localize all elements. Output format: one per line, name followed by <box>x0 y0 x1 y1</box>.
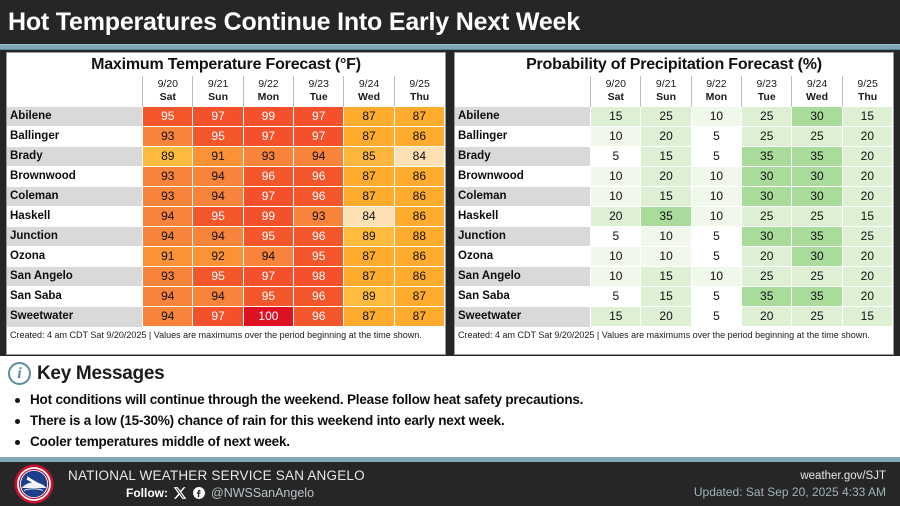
forecast-value-cell: 35 <box>641 207 691 227</box>
column-header-day-mon: 9/22Mon <box>691 76 741 107</box>
forecast-value-cell: 20 <box>641 167 691 187</box>
forecast-value-cell: 95 <box>243 227 293 247</box>
column-header-weekday: Sun <box>641 91 690 103</box>
column-header-date: 9/22 <box>706 78 726 90</box>
forecast-value-cell: 87 <box>394 307 444 327</box>
forecast-value-cell: 30 <box>792 187 842 207</box>
table-row: Junction949495968988 <box>7 227 445 247</box>
column-header-date: 9/24 <box>359 78 379 90</box>
table-row: San Saba949495968987 <box>7 287 445 307</box>
forecast-value-cell: 85 <box>344 147 394 167</box>
city-name-cell: Ozona <box>455 247 591 267</box>
city-name-cell: Ozona <box>7 247 143 267</box>
footer-bar: NATIONAL WEATHER SERVICE SAN ANGELO Foll… <box>0 462 900 506</box>
forecast-value-cell: 94 <box>193 167 243 187</box>
city-name-cell: Abilene <box>455 107 591 127</box>
forecast-value-cell: 35 <box>742 147 792 167</box>
forecast-value-cell: 93 <box>243 147 293 167</box>
forecast-value-cell: 20 <box>641 127 691 147</box>
column-header-date: 9/21 <box>656 78 676 90</box>
forecast-value-cell: 25 <box>742 107 792 127</box>
column-header-date: 9/21 <box>208 78 228 90</box>
table-header-row: 9/20Sat9/21Sun9/22Mon9/23Tue9/24Wed9/25T… <box>7 76 445 107</box>
forecast-value-cell: 15 <box>842 307 892 327</box>
forecast-value-cell: 20 <box>842 187 892 207</box>
table-body: Abilene959799978787Ballinger939597978786… <box>7 107 445 327</box>
table-row: Brady5155353520 <box>455 147 893 167</box>
column-header-weekday: Tue <box>294 91 343 103</box>
website-link[interactable]: weather.gov/SJT <box>694 470 886 482</box>
forecast-value-cell: 15 <box>641 267 691 287</box>
forecast-value-cell: 15 <box>591 307 641 327</box>
table-header-row: 9/20Sat9/21Sun9/22Mon9/23Tue9/24Wed9/25T… <box>455 76 893 107</box>
table-row: Ballinger939597978786 <box>7 127 445 147</box>
forecast-value-cell: 20 <box>842 167 892 187</box>
table-row: Coleman939497968786 <box>7 187 445 207</box>
forecast-value-cell: 96 <box>294 167 344 187</box>
forecast-value-cell: 30 <box>742 187 792 207</box>
precipitation-probability-panel: Probability of Precipitation Forecast (%… <box>454 52 894 355</box>
forecast-value-cell: 94 <box>143 207 193 227</box>
forecast-value-cell: 10 <box>691 187 741 207</box>
forecast-value-cell: 5 <box>591 287 641 307</box>
forecast-value-cell: 93 <box>143 267 193 287</box>
forecast-value-cell: 35 <box>792 147 842 167</box>
column-header-day-sat: 9/20Sat <box>143 76 193 107</box>
city-name-cell: San Saba <box>455 287 591 307</box>
forecast-value-cell: 20 <box>842 147 892 167</box>
column-header-weekday: Thu <box>395 91 445 103</box>
city-name-cell: Junction <box>455 227 591 247</box>
forecast-value-cell: 10 <box>591 127 641 147</box>
facebook-icon[interactable] <box>192 486 206 500</box>
forecast-value-cell: 91 <box>143 247 193 267</box>
forecast-value-cell: 88 <box>394 227 444 247</box>
forecast-value-cell: 20 <box>842 127 892 147</box>
forecast-value-cell: 96 <box>294 187 344 207</box>
forecast-value-cell: 89 <box>344 227 394 247</box>
forecast-value-cell: 10 <box>691 167 741 187</box>
forecast-value-cell: 95 <box>193 127 243 147</box>
key-messages-header: i Key Messages <box>8 362 900 385</box>
forecast-value-cell: 10 <box>591 167 641 187</box>
forecast-value-cell: 84 <box>344 207 394 227</box>
forecast-value-cell: 86 <box>394 187 444 207</box>
forecast-value-cell: 15 <box>842 107 892 127</box>
city-name-cell: Coleman <box>455 187 591 207</box>
column-header-day-wed: 9/24Wed <box>792 76 842 107</box>
key-messages-title: Key Messages <box>37 363 164 385</box>
forecast-value-cell: 95 <box>294 247 344 267</box>
agency-name: NATIONAL WEATHER SERVICE SAN ANGELO <box>68 468 365 483</box>
forecast-value-cell: 87 <box>344 127 394 147</box>
max-temperature-table: 9/20Sat9/21Sun9/22Mon9/23Tue9/24Wed9/25T… <box>7 76 445 327</box>
forecast-value-cell: 97 <box>294 127 344 147</box>
table-row: San Angelo101510252520 <box>455 267 893 287</box>
forecast-value-cell: 94 <box>193 187 243 207</box>
forecast-panels: Maximum Temperature Forecast (°F) 9/20Sa… <box>0 52 900 355</box>
forecast-value-cell: 87 <box>394 287 444 307</box>
city-name-cell: Brady <box>455 147 591 167</box>
forecast-value-cell: 30 <box>792 247 842 267</box>
forecast-value-cell: 20 <box>842 267 892 287</box>
column-header-day-thu: 9/25Thu <box>842 76 892 107</box>
forecast-value-cell: 30 <box>792 167 842 187</box>
forecast-value-cell: 93 <box>143 127 193 147</box>
forecast-value-cell: 94 <box>243 247 293 267</box>
table-row: Sweetwater9497100968787 <box>7 307 445 327</box>
max-temperature-title: Maximum Temperature Forecast (°F) <box>7 53 445 76</box>
column-header-day-tue: 9/23Tue <box>742 76 792 107</box>
column-header-date: 9/23 <box>309 78 329 90</box>
column-header-day-tue: 9/23Tue <box>294 76 344 107</box>
forecast-value-cell: 25 <box>842 227 892 247</box>
forecast-value-cell: 5 <box>691 287 741 307</box>
forecast-value-cell: 95 <box>193 267 243 287</box>
forecast-value-cell: 30 <box>792 107 842 127</box>
table-row: San Saba5155353520 <box>455 287 893 307</box>
column-header-weekday: Sun <box>193 91 242 103</box>
forecast-value-cell: 94 <box>294 147 344 167</box>
forecast-value-cell: 86 <box>394 127 444 147</box>
key-messages-section: i Key Messages Hot conditions will conti… <box>0 356 900 462</box>
precipitation-probability-footnote: Created: 4 am CDT Sat 9/20/2025 | Values… <box>455 327 893 342</box>
forecast-value-cell: 15 <box>591 107 641 127</box>
column-header-date: 9/20 <box>158 78 178 90</box>
table-row: Sweetwater15205202515 <box>455 307 893 327</box>
precipitation-probability-title: Probability of Precipitation Forecast (%… <box>455 53 893 76</box>
forecast-value-cell: 86 <box>394 167 444 187</box>
forecast-value-cell: 86 <box>394 207 444 227</box>
forecast-value-cell: 5 <box>591 227 641 247</box>
forecast-value-cell: 91 <box>193 147 243 167</box>
forecast-value-cell: 20 <box>742 307 792 327</box>
city-name-cell: Sweetwater <box>7 307 143 327</box>
table-row: Haskell949599938486 <box>7 207 445 227</box>
table-row: Ozona919294958786 <box>7 247 445 267</box>
forecast-value-cell: 94 <box>193 287 243 307</box>
forecast-value-cell: 87 <box>344 107 394 127</box>
page-title: Hot Temperatures Continue Into Early Nex… <box>0 8 580 37</box>
forecast-value-cell: 35 <box>742 287 792 307</box>
forecast-value-cell: 97 <box>294 107 344 127</box>
city-name-cell: Brady <box>7 147 143 167</box>
column-header-day-mon: 9/22Mon <box>243 76 293 107</box>
table-body: Abilene152510253015Ballinger10205252520B… <box>455 107 893 327</box>
forecast-value-cell: 25 <box>792 127 842 147</box>
forecast-value-cell: 5 <box>691 247 741 267</box>
forecast-value-cell: 97 <box>243 127 293 147</box>
forecast-value-cell: 20 <box>842 247 892 267</box>
column-header-day-sat: 9/20Sat <box>591 76 641 107</box>
forecast-value-cell: 25 <box>792 207 842 227</box>
table-corner-cell <box>455 76 591 107</box>
column-header-weekday: Sat <box>591 91 640 103</box>
forecast-value-cell: 97 <box>193 307 243 327</box>
forecast-value-cell: 93 <box>143 187 193 207</box>
forecast-value-cell: 94 <box>143 227 193 247</box>
table-row: Abilene152510253015 <box>455 107 893 127</box>
forecast-value-cell: 96 <box>294 287 344 307</box>
forecast-value-cell: 87 <box>344 307 394 327</box>
forecast-value-cell: 94 <box>143 307 193 327</box>
table-row: Junction5105303525 <box>455 227 893 247</box>
max-temperature-footnote: Created: 4 am CDT Sat 9/20/2025 | Values… <box>7 327 445 342</box>
forecast-value-cell: 25 <box>742 207 792 227</box>
forecast-value-cell: 20 <box>591 207 641 227</box>
follow-line: Follow: @NWSSanAngelo <box>126 486 365 500</box>
forecast-value-cell: 97 <box>243 187 293 207</box>
column-header-date: 9/20 <box>606 78 626 90</box>
column-header-weekday: Thu <box>843 91 893 103</box>
forecast-value-cell: 87 <box>344 267 394 287</box>
forecast-value-cell: 25 <box>792 267 842 287</box>
forecast-value-cell: 94 <box>143 287 193 307</box>
footer-right: weather.gov/SJT Updated: Sat Sep 20, 202… <box>694 470 886 499</box>
column-header-day-sun: 9/21Sun <box>641 76 691 107</box>
table-row: Ballinger10205252520 <box>455 127 893 147</box>
forecast-value-cell: 94 <box>193 227 243 247</box>
forecast-value-cell: 30 <box>742 227 792 247</box>
forecast-value-cell: 10 <box>691 267 741 287</box>
table-row: Haskell203510252515 <box>455 207 893 227</box>
forecast-value-cell: 99 <box>243 207 293 227</box>
column-header-date: 9/25 <box>409 78 429 90</box>
forecast-value-cell: 5 <box>691 147 741 167</box>
forecast-value-cell: 30 <box>742 167 792 187</box>
forecast-value-cell: 96 <box>294 227 344 247</box>
forecast-value-cell: 15 <box>842 207 892 227</box>
forecast-value-cell: 97 <box>193 107 243 127</box>
city-name-cell: Brownwood <box>455 167 591 187</box>
forecast-value-cell: 92 <box>193 247 243 267</box>
forecast-value-cell: 25 <box>742 267 792 287</box>
city-name-cell: Junction <box>7 227 143 247</box>
table-row: Brownwood939496968786 <box>7 167 445 187</box>
city-name-cell: Ballinger <box>455 127 591 147</box>
forecast-value-cell: 96 <box>243 167 293 187</box>
forecast-value-cell: 89 <box>143 147 193 167</box>
table-row: Ozona10105203020 <box>455 247 893 267</box>
header-bar: Hot Temperatures Continue Into Early Nex… <box>0 0 900 44</box>
city-name-cell: San Angelo <box>7 267 143 287</box>
forecast-value-cell: 98 <box>294 267 344 287</box>
forecast-value-cell: 93 <box>143 167 193 187</box>
forecast-value-cell: 20 <box>842 287 892 307</box>
nws-logo <box>14 464 54 504</box>
forecast-value-cell: 10 <box>691 207 741 227</box>
key-message-item: There is a low (15-30%) chance of rain f… <box>8 410 900 431</box>
table-row: Abilene959799978787 <box>7 107 445 127</box>
forecast-value-cell: 87 <box>394 107 444 127</box>
forecast-value-cell: 5 <box>591 147 641 167</box>
precipitation-probability-table: 9/20Sat9/21Sun9/22Mon9/23Tue9/24Wed9/25T… <box>455 76 893 327</box>
table-row: San Angelo939597988786 <box>7 267 445 287</box>
city-name-cell: Haskell <box>7 207 143 227</box>
forecast-value-cell: 25 <box>792 307 842 327</box>
city-name-cell: Sweetwater <box>455 307 591 327</box>
forecast-value-cell: 95 <box>193 207 243 227</box>
updated-timestamp: Updated: Sat Sep 20, 2025 4:33 AM <box>694 485 886 499</box>
column-header-weekday: Sat <box>143 91 192 103</box>
column-header-day-sun: 9/21Sun <box>193 76 243 107</box>
column-header-weekday: Mon <box>692 91 741 103</box>
forecast-value-cell: 25 <box>641 107 691 127</box>
key-messages-list: Hot conditions will continue through the… <box>8 389 900 452</box>
forecast-value-cell: 87 <box>344 247 394 267</box>
column-header-weekday: Wed <box>344 91 393 103</box>
forecast-value-cell: 95 <box>143 107 193 127</box>
weather-graphic: Hot Temperatures Continue Into Early Nex… <box>0 0 900 506</box>
forecast-value-cell: 10 <box>641 227 691 247</box>
forecast-value-cell: 84 <box>394 147 444 167</box>
forecast-value-cell: 35 <box>792 227 842 247</box>
city-name-cell: San Angelo <box>455 267 591 287</box>
column-header-day-thu: 9/25Thu <box>394 76 444 107</box>
forecast-value-cell: 97 <box>243 267 293 287</box>
forecast-value-cell: 86 <box>394 247 444 267</box>
column-header-weekday: Tue <box>742 91 791 103</box>
forecast-value-cell: 100 <box>243 307 293 327</box>
info-icon: i <box>8 362 31 385</box>
key-message-item: Hot conditions will continue through the… <box>8 389 900 410</box>
forecast-value-cell: 96 <box>294 307 344 327</box>
social-handle[interactable]: @NWSSanAngelo <box>211 486 314 500</box>
forecast-value-cell: 5 <box>691 307 741 327</box>
forecast-value-cell: 99 <box>243 107 293 127</box>
forecast-value-cell: 5 <box>691 227 741 247</box>
forecast-value-cell: 5 <box>691 127 741 147</box>
forecast-value-cell: 86 <box>394 267 444 287</box>
table-row: Brownwood102010303020 <box>455 167 893 187</box>
forecast-value-cell: 10 <box>591 267 641 287</box>
forecast-value-cell: 10 <box>641 247 691 267</box>
forecast-value-cell: 15 <box>641 287 691 307</box>
key-message-item: Cooler temperatures middle of next week. <box>8 431 900 452</box>
max-temperature-panel: Maximum Temperature Forecast (°F) 9/20Sa… <box>6 52 446 355</box>
forecast-value-cell: 20 <box>742 247 792 267</box>
city-name-cell: Brownwood <box>7 167 143 187</box>
agency-block: NATIONAL WEATHER SERVICE SAN ANGELO Foll… <box>68 468 365 500</box>
forecast-value-cell: 15 <box>641 187 691 207</box>
forecast-value-cell: 35 <box>792 287 842 307</box>
forecast-value-cell: 93 <box>294 207 344 227</box>
city-name-cell: Coleman <box>7 187 143 207</box>
column-header-weekday: Mon <box>244 91 293 103</box>
forecast-value-cell: 10 <box>591 247 641 267</box>
table-row: Coleman101510303020 <box>455 187 893 207</box>
forecast-value-cell: 87 <box>344 167 394 187</box>
forecast-value-cell: 10 <box>691 107 741 127</box>
city-name-cell: San Saba <box>7 287 143 307</box>
column-header-day-wed: 9/24Wed <box>344 76 394 107</box>
forecast-value-cell: 89 <box>344 287 394 307</box>
x-twitter-icon[interactable] <box>173 486 187 500</box>
table-row: Brady899193948584 <box>7 147 445 167</box>
forecast-value-cell: 95 <box>243 287 293 307</box>
column-header-date: 9/25 <box>857 78 877 90</box>
column-header-date: 9/23 <box>757 78 777 90</box>
header-accent-rule <box>0 44 900 50</box>
city-name-cell: Ballinger <box>7 127 143 147</box>
forecast-value-cell: 20 <box>641 307 691 327</box>
table-corner-cell <box>7 76 143 107</box>
forecast-value-cell: 15 <box>641 147 691 167</box>
city-name-cell: Abilene <box>7 107 143 127</box>
forecast-value-cell: 10 <box>591 187 641 207</box>
column-header-date: 9/24 <box>807 78 827 90</box>
forecast-value-cell: 87 <box>344 187 394 207</box>
follow-label: Follow: <box>126 486 168 500</box>
city-name-cell: Haskell <box>455 207 591 227</box>
forecast-value-cell: 25 <box>742 127 792 147</box>
column-header-date: 9/22 <box>258 78 278 90</box>
column-header-weekday: Wed <box>792 91 841 103</box>
